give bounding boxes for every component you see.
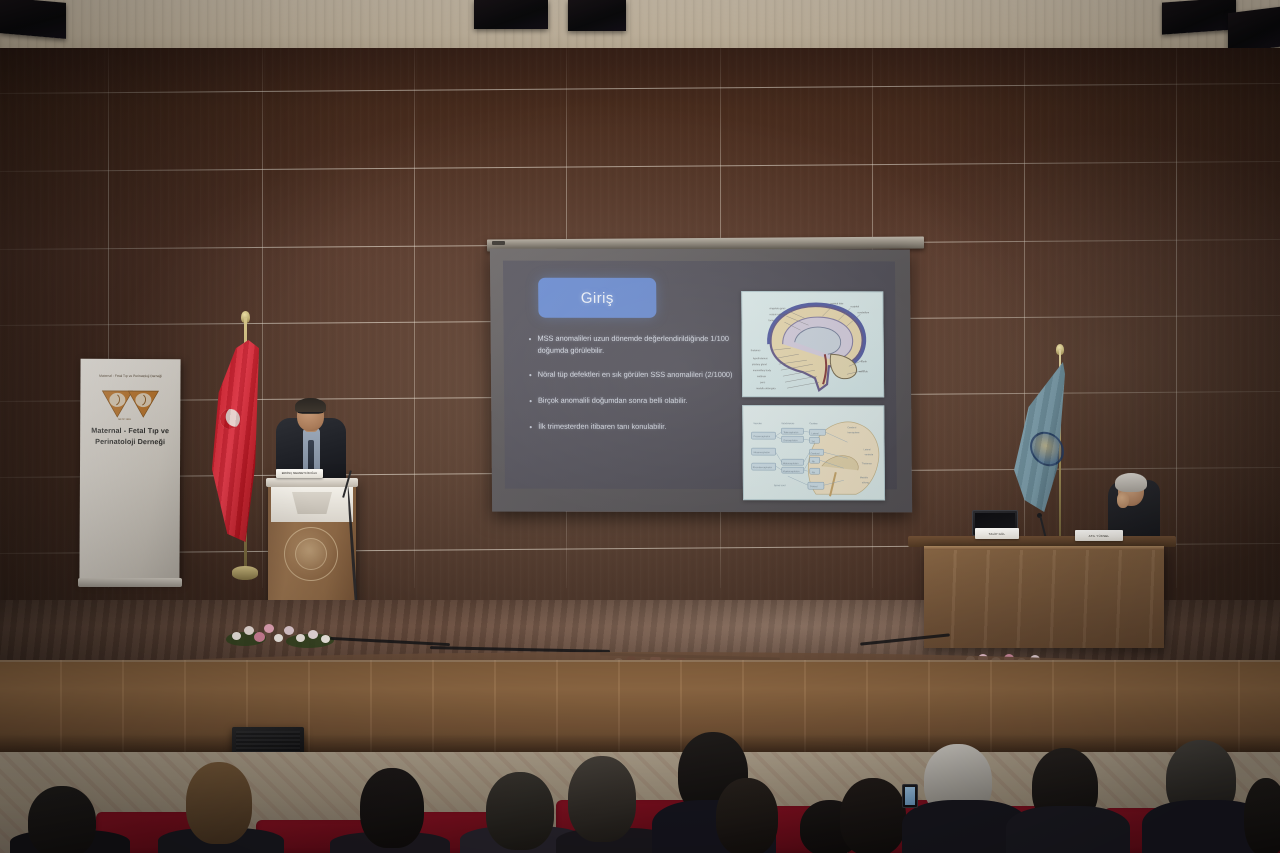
phone-screen [905, 787, 915, 805]
presentation-slide: Giriş • MSS anomalileri uzun dönemde değ… [503, 261, 897, 490]
ceiling-panel-3 [568, 0, 626, 31]
svg-text:oblong.: oblong. [862, 482, 870, 484]
list-item: • Nöral tüp defektleri en sık görülen SS… [529, 369, 744, 382]
glasses-icon [298, 412, 323, 418]
vesicle-flow-svg: Vesicles Subdivisions Cavities Prosencep… [743, 406, 884, 499]
podium-university-seal [284, 527, 338, 581]
slide-title-box: Giriş [538, 278, 656, 318]
projection-screen: Giriş • MSS anomalileri uzun dönemde değ… [490, 249, 912, 513]
svg-text:Diencephalon: Diencephalon [784, 440, 799, 442]
flower [321, 635, 330, 643]
flower [244, 626, 254, 635]
svg-text:hypothalamus: hypothalamus [753, 357, 769, 360]
svg-text:medulla oblongata: medulla oblongata [756, 387, 776, 390]
svg-text:Cerebral: Cerebral [847, 426, 856, 429]
audience-head [1244, 778, 1280, 853]
flower [232, 632, 241, 640]
svg-text:hemisphere: hemisphere [847, 431, 860, 434]
brain-anatomy-svg: cingulate gyrus corpus callosum fornix p… [742, 292, 883, 396]
bullet-marker-icon: • [529, 369, 532, 382]
smartphone[interactable] [902, 784, 918, 808]
svg-text:parietal lobe: parietal lobe [830, 302, 844, 305]
svg-text:mammillary body: mammillary body [753, 369, 772, 372]
bullet-marker-icon: • [529, 421, 532, 434]
table-nameplate-right: ATIL YÜKSEL [1075, 530, 1123, 541]
flower [254, 632, 265, 642]
moderator-table-edge [924, 546, 1164, 550]
ceiling-panel-5 [1228, 7, 1280, 53]
svg-text:occipital: occipital [850, 305, 859, 308]
svg-text:Central: Central [810, 485, 818, 488]
flower [264, 624, 274, 633]
podium-top-surface [266, 478, 358, 487]
ceiling-panel-2 [474, 0, 548, 29]
svg-text:Prosencephalon: Prosencephalon [753, 435, 770, 438]
bullet-text: Birçok anomalili doğumdan sonra belli ol… [538, 395, 688, 408]
list-item: • İlk trimesterden itibaren tanı konulab… [529, 421, 744, 434]
svg-text:Myelencephalon: Myelencephalon [783, 471, 800, 473]
audience-head [186, 762, 252, 844]
slide-bullet-list: • MSS anomalileri uzun dönemde değerlend… [529, 333, 745, 447]
svg-text:cingulate gyrus: cingulate gyrus [769, 307, 786, 310]
list-item: • MSS anomalileri uzun dönemde değerlend… [529, 333, 744, 356]
brain-midsagittal-diagram: cingulate gyrus corpus callosum fornix p… [741, 291, 884, 397]
svg-text:corpus callosum: corpus callosum [769, 313, 786, 316]
moderator-hair [1115, 473, 1147, 492]
svg-text:Mesencephalon: Mesencephalon [754, 452, 771, 454]
svg-text:Thalamus: Thalamus [862, 463, 873, 465]
table-nameplate-right-label: ATIL YÜKSEL [1089, 534, 1110, 538]
bullet-marker-icon: • [529, 333, 532, 356]
bullet-text: MSS anomalileri uzun dönemde değerlendir… [537, 333, 743, 356]
bullet-marker-icon: • [529, 395, 532, 408]
svg-text:pons: pons [760, 381, 766, 384]
svg-text:fornix: fornix [768, 319, 775, 322]
svg-text:Subdivisions: Subdivisions [781, 423, 795, 425]
flower [284, 626, 294, 635]
svg-text:Cerebral: Cerebral [811, 452, 820, 455]
ceiling-panel-4 [1162, 0, 1236, 35]
screen-valance-control[interactable] [492, 241, 505, 245]
svg-text:midbrain: midbrain [757, 375, 767, 378]
flower [274, 634, 283, 642]
flower [308, 630, 318, 639]
svg-text:Spinal cord: Spinal cord [774, 484, 786, 487]
rollup-banner: Maternal - Fetal Tıp ve Perinatoloji Der… [79, 359, 180, 582]
svg-text:Metencephalon: Metencephalon [783, 462, 799, 465]
table-nameplate-left-label: TALİP GÜL [989, 532, 1006, 536]
bullet-text: İlk trimesterden itibaren tanı konulabil… [538, 421, 666, 434]
svg-text:cerebellum: cerebellum [857, 311, 869, 314]
svg-text:ventricle: ventricle [865, 453, 874, 456]
svg-text:pituitary gland: pituitary gland [752, 363, 768, 366]
seal-inner-ring [295, 538, 327, 570]
podium-panel-notch [292, 492, 332, 514]
podium-nameplate: ERDİNÇ MEHMETCİKOĞLU [276, 469, 323, 478]
svg-text:Lateral: Lateral [811, 432, 819, 435]
moderator-hand [1117, 492, 1129, 508]
audience-head [568, 756, 636, 842]
podium-nameplate-label: ERDİNÇ MEHMETCİKOĞLU [282, 472, 318, 475]
svg-text:fourth: fourth [861, 360, 868, 363]
svg-text:Rhombencephalon: Rhombencephalon [753, 467, 773, 469]
audience-shoulders [1006, 806, 1130, 853]
audience-head [840, 778, 906, 853]
auditorium-photo: Giriş • MSS anomalileri uzun dönemde değ… [0, 0, 1280, 853]
list-item: • Birçok anomalili doğumdan sonra belli … [529, 395, 744, 408]
audience-head [28, 786, 96, 853]
svg-text:Lateral: Lateral [864, 448, 872, 451]
svg-text:Telencephalon: Telencephalon [783, 432, 799, 434]
ceiling-panel-1 [0, 0, 66, 39]
audience-head [486, 772, 554, 850]
flower-arrangement-left [226, 618, 346, 652]
svg-text:ventricle: ventricle [859, 370, 869, 373]
svg-text:Vesicles: Vesicles [753, 423, 762, 425]
banner-shading [79, 359, 180, 582]
moderator-table [924, 546, 1164, 648]
svg-text:Medulla: Medulla [860, 477, 869, 479]
svg-text:Cavities: Cavities [809, 422, 818, 425]
flower [296, 634, 305, 642]
bullet-text: Nöral tüp defektleri en sık görülen SSS … [538, 369, 733, 382]
brain-vesicle-flowchart: Vesicles Subdivisions Cavities Prosencep… [742, 405, 885, 500]
table-nameplate-left: TALİP GÜL [975, 528, 1019, 539]
audience-head [360, 768, 424, 848]
svg-text:thalamus: thalamus [751, 349, 762, 352]
banner-stand [78, 578, 182, 587]
slide-title: Giriş [581, 289, 614, 306]
audience-head [716, 778, 778, 853]
turkish-flag-base [232, 566, 258, 580]
